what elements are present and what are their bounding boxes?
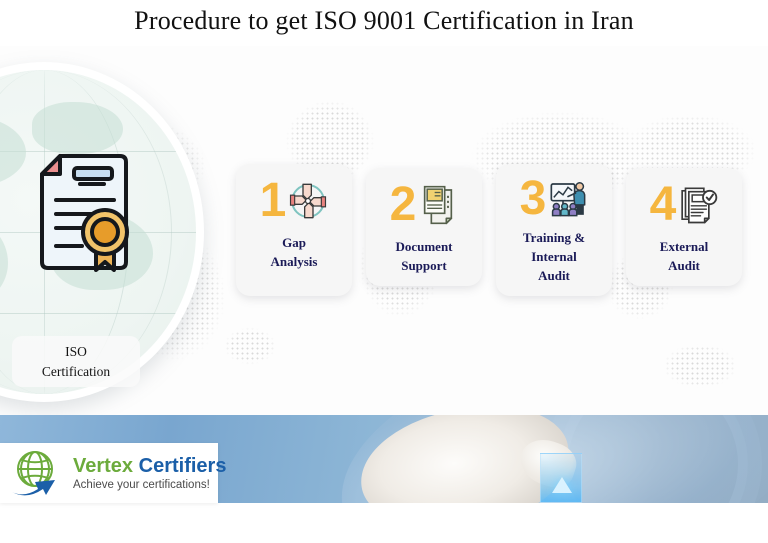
step-2-header: 2	[372, 176, 476, 234]
procedure-steps-row: 1 Gap Analysis 2	[236, 164, 760, 304]
stacked-documents-icon	[418, 185, 458, 225]
logo-brand-word1: Vertex	[73, 455, 133, 477]
training-presentation-icon	[548, 179, 588, 219]
iso-label-line1: ISO	[16, 342, 136, 362]
step-3-label: Training & Internal Audit	[523, 229, 585, 286]
step-card-gap-analysis[interactable]: 1 Gap Analysis	[236, 164, 352, 296]
logo-tagline: Achieve your certifications!	[73, 479, 226, 491]
step-card-document-support[interactable]: 2 Document Support	[366, 168, 482, 286]
logo-brand-name: Vertex Certifiers	[73, 456, 226, 477]
certificate-with-seal-icon	[34, 152, 140, 272]
iso-label-line2: Certification	[16, 362, 136, 382]
logo-brand-word2: Certifiers	[139, 455, 227, 477]
step-card-training-internal-audit[interactable]: 3 Training & Internal Audit	[496, 164, 612, 296]
banner-glow-arrow-icon	[552, 477, 572, 493]
step-4-label: External Audit	[660, 238, 708, 276]
vertex-certifiers-logo[interactable]: Vertex Certifiers Achieve your certifica…	[0, 443, 218, 503]
step-3-header: 3	[502, 172, 606, 225]
step-4-header: 4	[632, 176, 736, 234]
step-4-number: 4	[650, 181, 677, 229]
page-title: Procedure to get ISO 9001 Certification …	[0, 6, 768, 36]
document-checkmark-audit-icon	[678, 185, 718, 225]
globe-with-arrow-logo-icon	[8, 448, 66, 498]
step-2-label: Document Support	[395, 238, 452, 276]
step-card-external-audit[interactable]: 4 External Audit	[626, 168, 742, 286]
iso-certification-label: ISO Certification	[12, 336, 140, 387]
handshake-collaboration-icon	[288, 181, 328, 221]
step-1-label: Gap Analysis	[271, 234, 318, 272]
step-1-header: 1	[242, 172, 346, 230]
step-2-number: 2	[390, 181, 417, 229]
step-1-number: 1	[260, 177, 287, 225]
step-3-number: 3	[520, 175, 547, 223]
logo-text-block: Vertex Certifiers Achieve your certifica…	[73, 456, 226, 491]
